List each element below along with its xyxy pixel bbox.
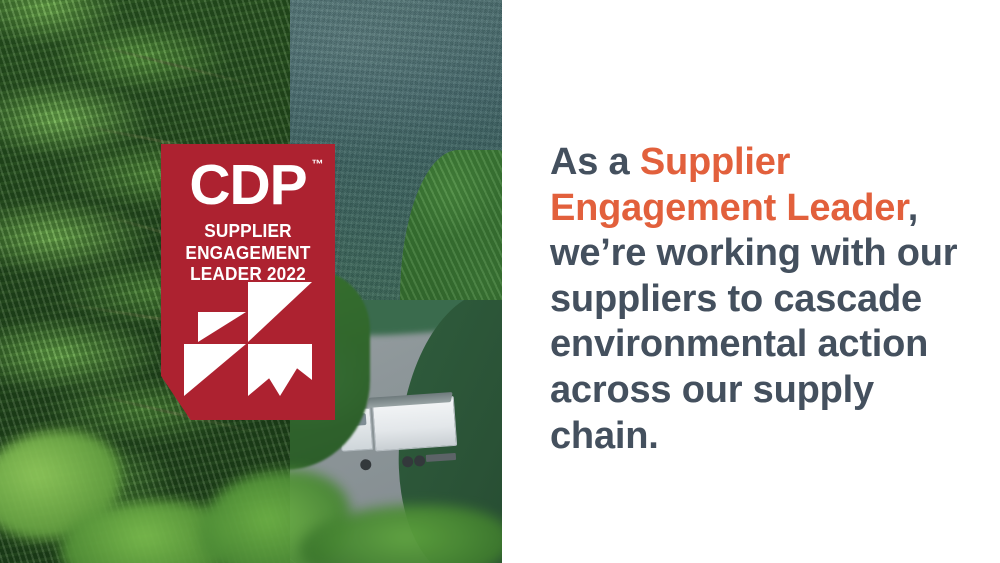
headline-line-3: we’re working with our — [550, 232, 957, 274]
cdp-wordmark: CDP ™ — [189, 144, 306, 214]
badge-subtitle-line-2: ENGAGEMENT — [167, 242, 329, 264]
headline-line-1: As a Supplier — [550, 141, 790, 183]
headline-seg-engagement-leader: Engagement Leader — [550, 187, 908, 229]
headline-line-7: chain. — [550, 415, 659, 457]
headline-line-6: across our supply — [550, 369, 874, 411]
cdp-wordmark-text: CDP — [189, 153, 306, 217]
headline-seg-as-a: As a — [550, 141, 640, 183]
cdp-award-badge: CDP ™ SUPPLIER ENGAGEMENT LEADER 2022 — [161, 144, 335, 420]
badge-subtitle-line-1: SUPPLIER — [167, 220, 329, 242]
headline-line-2: Engagement Leader, — [550, 187, 918, 229]
headline-copy: As a Supplier Engagement Leader, we’re w… — [550, 140, 970, 459]
cdp-triangles-icon — [182, 280, 314, 398]
headline-line-4: suppliers to cascade — [550, 278, 922, 320]
headline-paragraph: As a Supplier Engagement Leader, we’re w… — [550, 140, 970, 459]
slide-canvas: CDP ™ SUPPLIER ENGAGEMENT LEADER 2022 — [0, 0, 1000, 563]
hero-photo: CDP ™ SUPPLIER ENGAGEMENT LEADER 2022 — [0, 0, 502, 563]
headline-line-5: environmental action — [550, 323, 928, 365]
headline-seg-supplier: Supplier — [640, 141, 790, 183]
trademark-icon: ™ — [312, 158, 324, 170]
headline-seg-comma: , — [908, 187, 918, 229]
badge-subtitle: SUPPLIER ENGAGEMENT LEADER 2022 — [167, 220, 329, 285]
